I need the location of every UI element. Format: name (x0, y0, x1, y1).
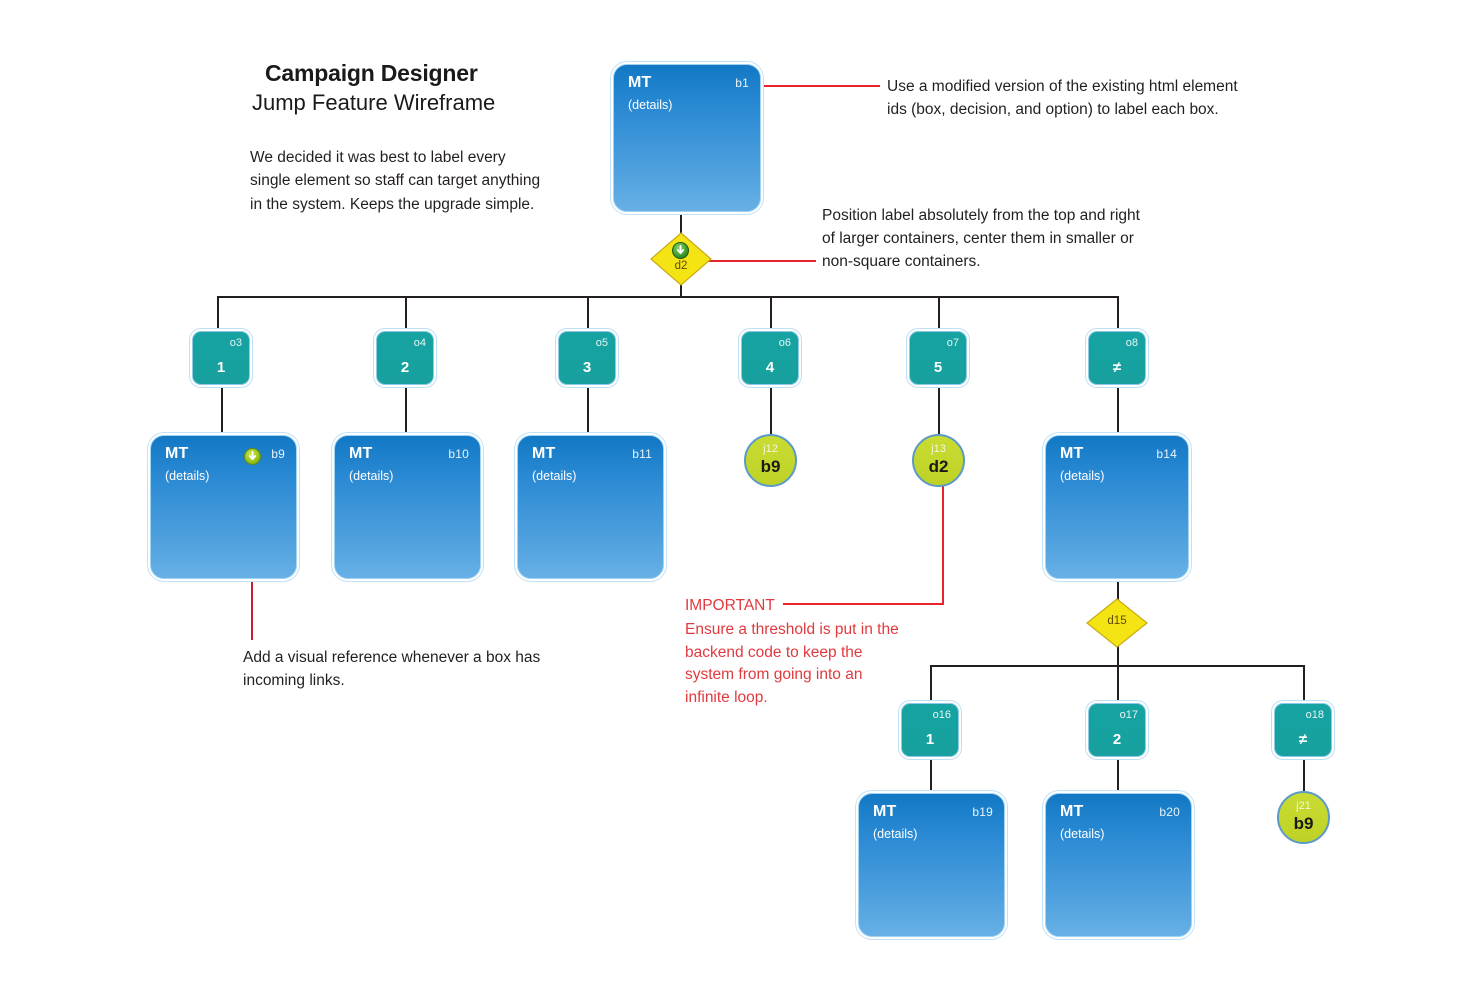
option-node-o6[interactable]: o6 4 (741, 331, 799, 385)
annotation-position-label: Position label absolutely from the top a… (822, 205, 1157, 274)
connector-o17-b20 (1117, 757, 1119, 793)
box-details: (details) (1060, 827, 1104, 841)
option-value: 1 (193, 359, 249, 376)
connector-bus-o16 (930, 665, 932, 703)
decision-node-d15[interactable]: d15 (1086, 598, 1148, 648)
option-value: 4 (742, 359, 798, 376)
box-node-b10[interactable]: MT (details) b10 (334, 435, 481, 579)
decision-node-d2[interactable]: d2 (650, 232, 712, 286)
connector-o3-b9 (221, 385, 223, 435)
annotation-important-heading: IMPORTANT (685, 595, 900, 617)
box-title: MT (165, 445, 189, 463)
box-title: MT (1060, 803, 1084, 821)
option-node-o4[interactable]: o4 2 (376, 331, 434, 385)
box-node-b19[interactable]: MT (details) b19 (858, 793, 1005, 937)
box-node-b9[interactable]: MT (details) b9 (150, 435, 297, 579)
box-details: (details) (165, 469, 209, 483)
connector-bus-o17 (1117, 665, 1119, 703)
option-node-o8[interactable]: o8 ≠ (1088, 331, 1146, 385)
connector-b1-d2 (680, 212, 682, 234)
incoming-link-badge (672, 242, 689, 259)
option-value: 5 (910, 359, 966, 376)
box-id-label: b10 (448, 447, 469, 461)
option-id-label: o18 (1306, 709, 1324, 721)
box-details: (details) (628, 98, 672, 112)
option-node-o3[interactable]: o3 1 (192, 331, 250, 385)
callout-line-b1 (752, 85, 880, 87)
connector-bus-o6 (770, 296, 772, 332)
option-value: 2 (1089, 731, 1145, 748)
option-value: 3 (559, 359, 615, 376)
box-node-b20[interactable]: MT (details) b20 (1045, 793, 1192, 937)
option-node-o7[interactable]: o7 5 (909, 331, 967, 385)
connector-o5-b11 (587, 385, 589, 435)
diamond-shape (650, 232, 712, 286)
option-id-label: o4 (414, 337, 426, 349)
option-value: ≠ (1275, 731, 1331, 748)
box-details: (details) (1060, 469, 1104, 483)
option-id-label: o5 (596, 337, 608, 349)
connector-bus-top (217, 296, 1118, 298)
page-subtitle: Jump Feature Wireframe (252, 90, 495, 116)
connector-o18-j21 (1303, 757, 1305, 791)
page-title: Campaign Designer (265, 60, 478, 87)
option-node-o18[interactable]: o18 ≠ (1274, 703, 1332, 757)
box-id-label: b20 (1159, 805, 1180, 819)
connector-o8-b14 (1117, 385, 1119, 435)
connector-bus-o3 (217, 296, 219, 332)
box-node-b14[interactable]: MT (details) b14 (1045, 435, 1189, 579)
box-details: (details) (532, 469, 576, 483)
connector-o4-b10 (405, 385, 407, 435)
option-id-label: o8 (1126, 337, 1138, 349)
decision-id-label: d2 (650, 260, 712, 272)
box-id-label: b1 (735, 76, 749, 90)
option-value: 2 (377, 359, 433, 376)
box-title: MT (1060, 445, 1084, 463)
box-node-b1[interactable]: MT (details) b1 (613, 64, 761, 212)
box-id-label: b11 (632, 447, 652, 461)
option-id-label: o17 (1120, 709, 1138, 721)
option-id-label: o7 (947, 337, 959, 349)
decision-id-label: d15 (1086, 615, 1148, 627)
connector-o6-j12 (770, 385, 772, 434)
box-title: MT (873, 803, 897, 821)
jump-id-label: j13 (914, 443, 963, 455)
wireframe-canvas: Campaign Designer Jump Feature Wireframe… (0, 0, 1481, 987)
box-title: MT (532, 445, 556, 463)
jump-node-j13[interactable]: j13 d2 (912, 434, 965, 487)
connector-d15-bus (1117, 646, 1119, 666)
option-value: 1 (902, 731, 958, 748)
option-node-o16[interactable]: o16 1 (901, 703, 959, 757)
intro-note: We decided it was best to label every si… (250, 146, 550, 216)
box-id-label: b19 (972, 805, 993, 819)
box-title: MT (628, 74, 652, 92)
incoming-link-badge (244, 448, 261, 465)
option-id-label: o16 (933, 709, 951, 721)
connector-o16-b19 (930, 757, 932, 793)
box-details: (details) (349, 469, 393, 483)
box-title: MT (349, 445, 373, 463)
jump-target-label: d2 (914, 457, 963, 477)
jump-target-label: b9 (1279, 814, 1328, 834)
connector-bus-o18 (1303, 665, 1305, 703)
connector-b14-d15 (1117, 578, 1119, 600)
jump-target-label: b9 (746, 457, 795, 477)
connector-o7-j13 (938, 385, 940, 434)
connector-bus-o7 (938, 296, 940, 332)
annotation-incoming-links: Add a visual reference whenever a box ha… (243, 647, 583, 693)
annotation-important-body: Ensure a threshold is put in the backend… (685, 619, 900, 709)
jump-id-label: j21 (1279, 800, 1328, 812)
callout-line-j13-horizontal (783, 603, 944, 605)
box-id-label: b9 (271, 447, 285, 461)
connector-bus-o8 (1117, 296, 1119, 332)
jump-node-j12[interactable]: j12 b9 (744, 434, 797, 487)
jump-node-j21[interactable]: j21 b9 (1277, 791, 1330, 844)
connector-bus-o4 (405, 296, 407, 332)
box-node-b11[interactable]: MT (details) b11 (517, 435, 664, 579)
jump-id-label: j12 (746, 443, 795, 455)
option-id-label: o6 (779, 337, 791, 349)
box-details: (details) (873, 827, 917, 841)
option-node-o17[interactable]: o17 2 (1088, 703, 1146, 757)
box-id-label: b14 (1156, 447, 1177, 461)
option-value: ≠ (1089, 359, 1145, 376)
annotation-element-ids: Use a modified version of the existing h… (887, 76, 1257, 122)
option-id-label: o3 (230, 337, 242, 349)
connector-bus-o5 (587, 296, 589, 332)
option-node-o5[interactable]: o5 3 (558, 331, 616, 385)
annotation-important: IMPORTANT Ensure a threshold is put in t… (685, 595, 900, 709)
